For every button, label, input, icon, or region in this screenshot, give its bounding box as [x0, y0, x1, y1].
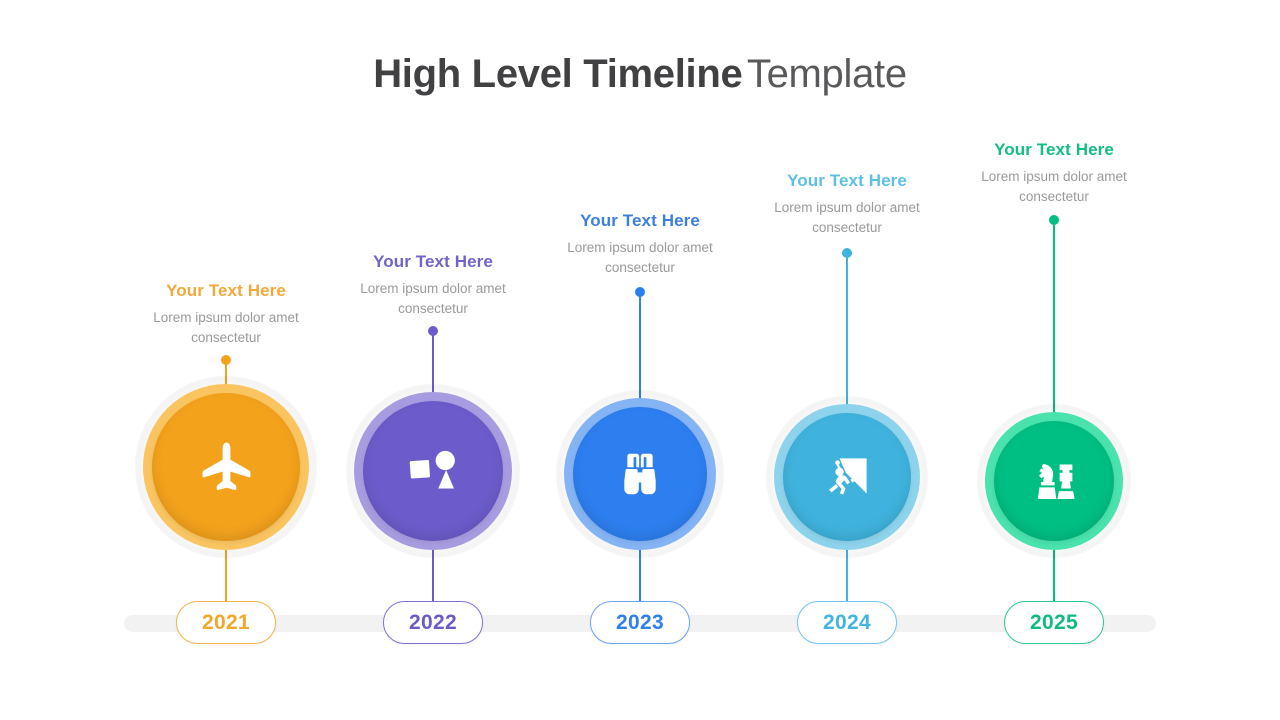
- connector-dot: [221, 355, 231, 365]
- year-pill-2025[interactable]: 2025: [1004, 601, 1104, 644]
- year-pill-2024[interactable]: 2024: [797, 601, 897, 644]
- connector-dot: [428, 326, 438, 336]
- climber-icon: [822, 452, 873, 503]
- slide-canvas: High Level Timeline Template Your Text H…: [0, 0, 1280, 720]
- shapes-icon: [405, 443, 461, 499]
- connector-dot: [1049, 215, 1059, 225]
- node-icon-circle[interactable]: [977, 404, 1131, 558]
- circle-disc[interactable]: [994, 421, 1114, 541]
- connector-dot: [635, 287, 645, 297]
- circle-disc[interactable]: [152, 393, 300, 541]
- circle-disc[interactable]: [573, 407, 707, 541]
- node-heading: Your Text Here: [96, 281, 356, 301]
- connector-dot: [842, 248, 852, 258]
- year-label: 2024: [823, 611, 871, 635]
- node-text-block: Your Text HereLorem ipsum dolor amet con…: [96, 281, 356, 347]
- circle-disc[interactable]: [783, 413, 911, 541]
- year-pill-2022[interactable]: 2022: [383, 601, 483, 644]
- circle-disc[interactable]: [363, 401, 503, 541]
- year-label: 2022: [409, 611, 457, 635]
- year-label: 2021: [202, 611, 250, 635]
- node-icon-circle[interactable]: [135, 376, 317, 558]
- node-description: Lorem ipsum dolor amet consectetur: [96, 308, 356, 347]
- node-icon-circle[interactable]: [346, 384, 520, 558]
- node-icon-circle[interactable]: [766, 396, 928, 558]
- timeline-node-2021[interactable]: Your Text HereLorem ipsum dolor amet con…: [96, 0, 356, 720]
- year-label: 2025: [1030, 611, 1078, 635]
- binoculars-icon: [613, 447, 667, 501]
- year-pill-2023[interactable]: 2023: [590, 601, 690, 644]
- year-pill-2021[interactable]: 2021: [176, 601, 276, 644]
- year-label: 2023: [616, 611, 664, 635]
- airplane-icon: [197, 438, 256, 497]
- chess-icon: [1030, 457, 1078, 505]
- node-icon-circle[interactable]: [556, 390, 724, 558]
